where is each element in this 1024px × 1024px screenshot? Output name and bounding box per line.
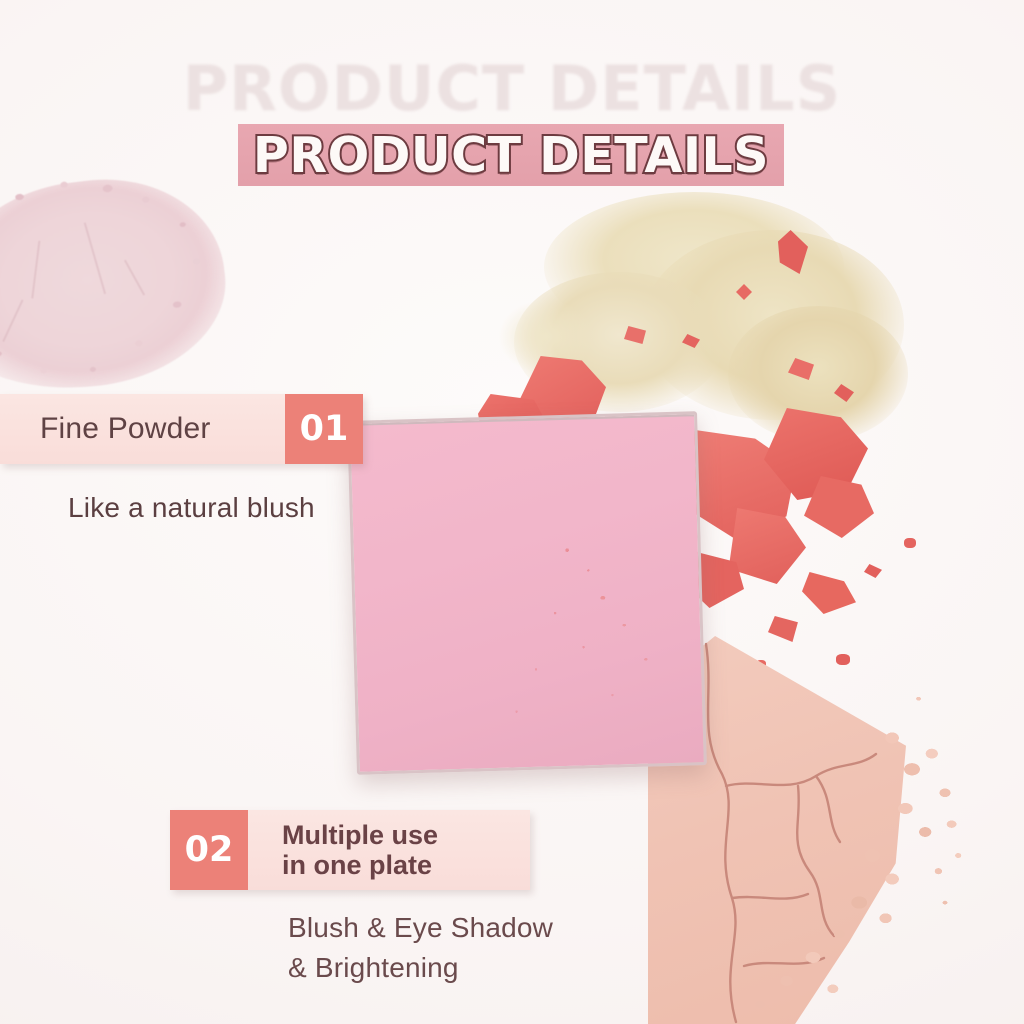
feature-01-description: Like a natural blush <box>68 492 315 524</box>
feature-02-title-line2: in one plate <box>282 850 432 880</box>
page-title: PRODUCT DETAILS <box>238 120 784 190</box>
feature-01-title: Fine Powder <box>40 412 211 446</box>
feature-bar-02: 02 Multiple use in one plate <box>170 810 530 890</box>
ghost-page-title: PRODUCT DETAILS <box>0 52 1024 125</box>
feature-02-description-line2: & Brightening <box>288 948 553 988</box>
product-details-graphic: PRODUCT DETAILS PRODUCT DETAILS Fine Pow… <box>0 0 1024 1024</box>
feature-02-description-line1: Blush & Eye Shadow <box>288 908 553 948</box>
feature-bar-01: Fine Powder 01 <box>0 394 363 464</box>
powder-compact-pan <box>347 411 707 775</box>
feature-02-title-line1: Multiple use <box>282 820 438 850</box>
feature-02-title-container: Multiple use in one plate <box>248 810 530 890</box>
feature-01-number: 01 <box>285 394 363 464</box>
feature-02-number: 02 <box>170 810 248 890</box>
feature-01-title-container: Fine Powder <box>0 394 285 464</box>
pale-pink-crushed-powder <box>0 165 236 403</box>
feature-02-description: Blush & Eye Shadow & Brightening <box>288 908 553 988</box>
